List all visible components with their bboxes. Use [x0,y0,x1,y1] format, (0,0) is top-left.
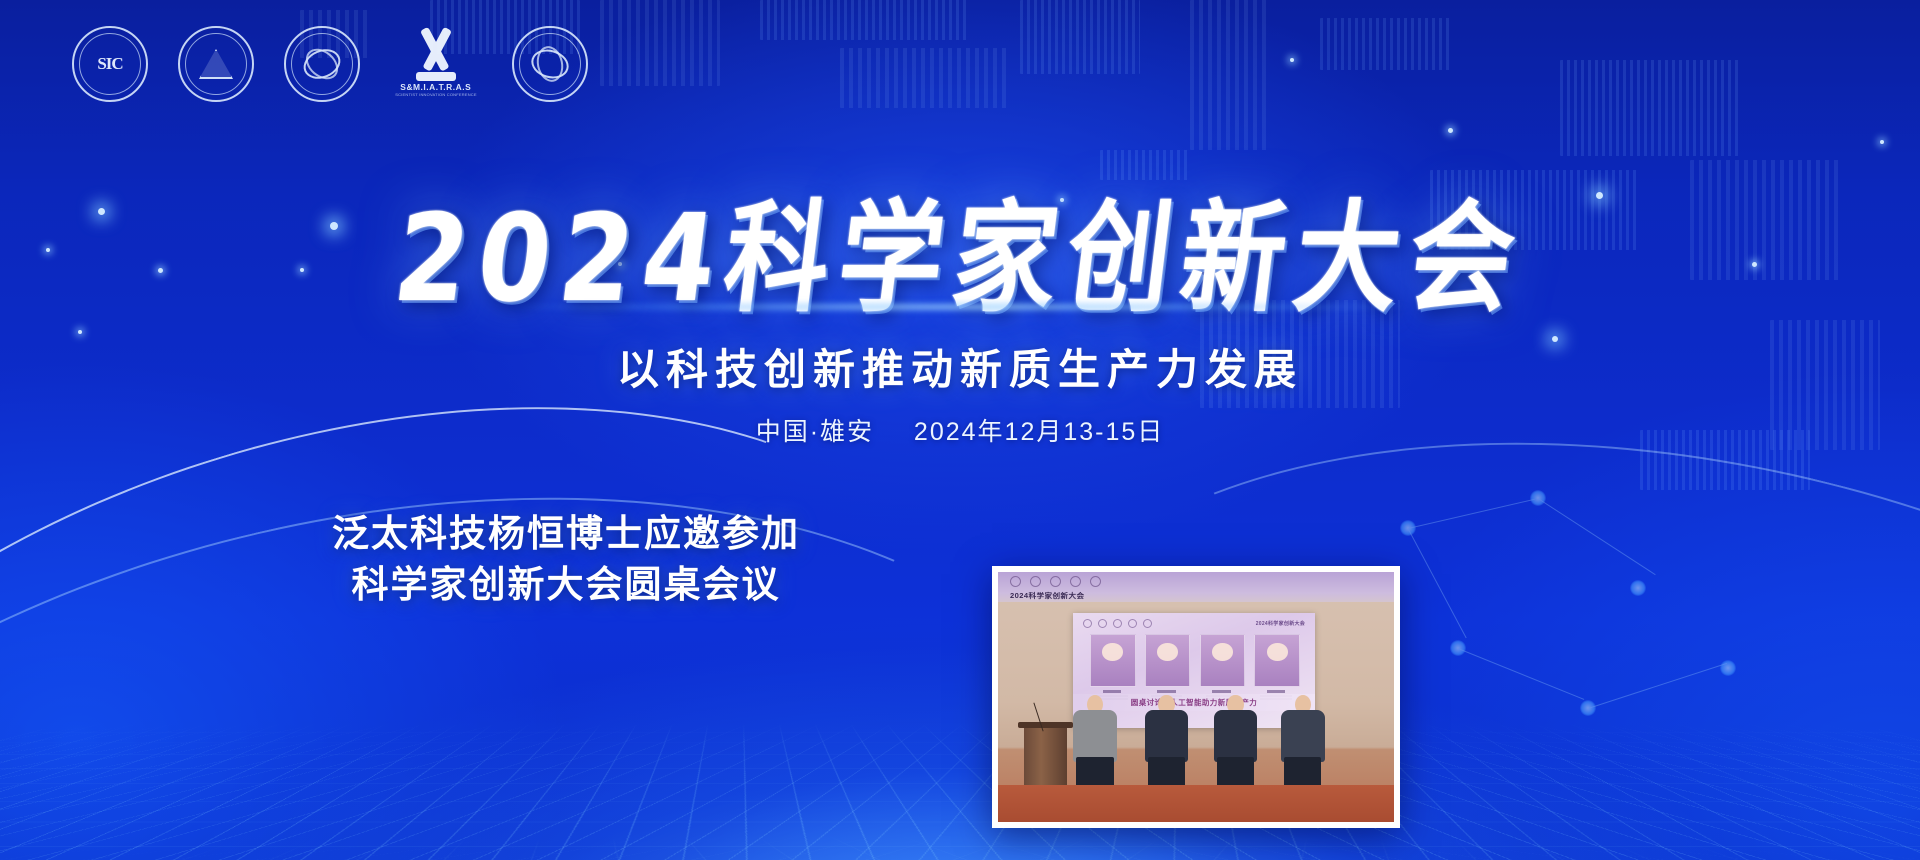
title-block: 2024科学家创新大会 [0,206,1920,310]
photo-portrait [1145,634,1189,701]
logo-delta-wordmark-emblem: S&M.I.A.T.R.A.S SCIENTIST INNOVATION CON… [390,26,482,102]
logo-triangle-seal-emblem [178,26,254,102]
logo-circular-institute-emblem [512,26,588,102]
photo-portrait [1254,634,1298,701]
photo-panelist [1210,695,1261,788]
photo-screen-title: 2024科学家创新大会 [1256,620,1305,627]
event-meta: 中国·雄安 2024年12月13-15日 [0,412,1920,448]
event-photo: 2024科学家创新大会 2024科学家创新大会 圆桌讨论：人工智能助力新质生产力 [992,566,1400,828]
logo-sic-emblem: SIC [72,26,148,102]
background-node-cluster [1380,490,1800,820]
photo-stage-floor [998,785,1394,823]
logo-delta-sub: SCIENTIST INNOVATION CONFERENCE [395,92,477,97]
photo-speaker-portraits [1090,634,1298,701]
page-title: 2024科学家创新大会 [389,198,1531,319]
title-underglow [510,302,1410,312]
page-subtitle: 以科技创新推动新质生产力发展 [0,336,1920,397]
conference-poster: SIC S&M.I.A.T.R.A.S SCIENTIST INNOVATION… [0,0,1920,860]
delta-icon [408,31,464,81]
logo-delta-label: S&M.I.A.T.R.A.S [401,83,472,92]
logo-sic-mark: SIC [97,54,122,74]
logo-atom-seal-emblem [284,26,360,102]
event-location: 中国·雄安 [756,418,874,446]
photo-screen-icons [1083,619,1152,628]
photo-panelist [1277,695,1328,788]
photo-ceiling-banner: 2024科学家创新大会 [1010,591,1085,601]
organizer-logo-row: SIC S&M.I.A.T.R.A.S SCIENTIST INNOVATION… [72,26,588,102]
caption-line-2: 科学家创新大会圆桌会议 [316,559,816,610]
photo-panelist [1069,695,1120,788]
photo-ceiling-icons [1010,576,1101,587]
event-date: 2024年12月13-15日 [914,418,1164,446]
photo-portrait [1200,634,1244,701]
caption-block: 泛太科技杨恒博士应邀参加 科学家创新大会圆桌会议 [316,508,816,610]
photo-portrait [1090,634,1134,701]
caption-line-1: 泛太科技杨恒博士应邀参加 [316,508,816,559]
photo-panelist [1141,695,1192,788]
